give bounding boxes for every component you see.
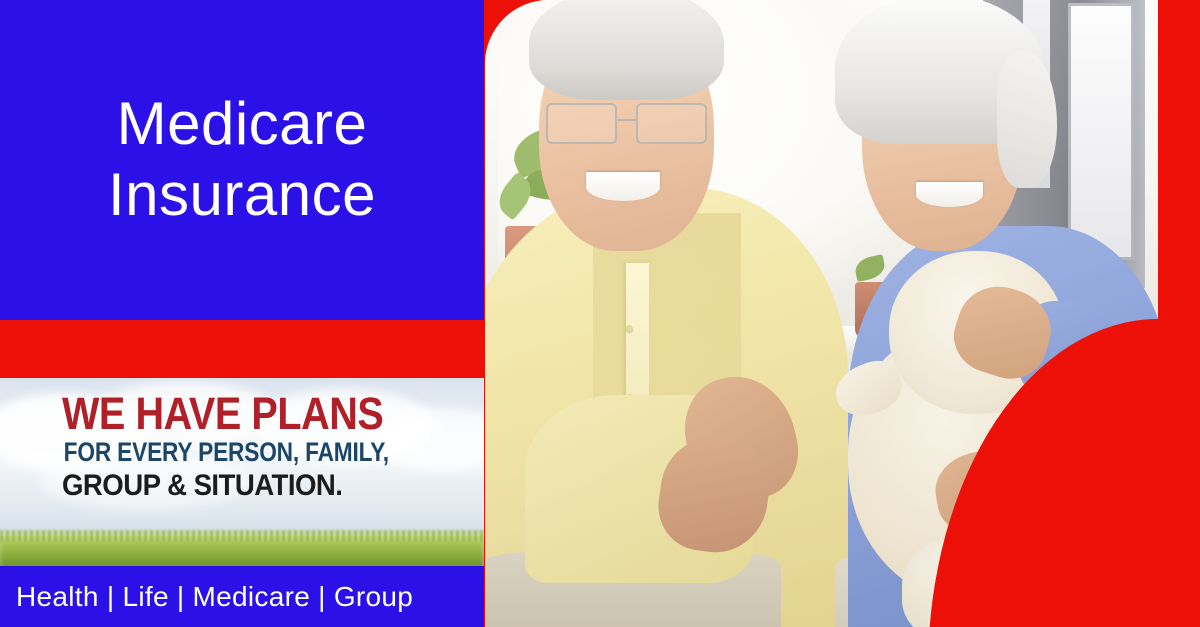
senior-man-smile	[586, 172, 660, 200]
window-pane	[1071, 6, 1132, 257]
plans-headline-primary: WE HAVE PLANS	[62, 392, 433, 436]
page-title: Medicare Insurance	[0, 0, 484, 320]
we-have-plans-banner: WE HAVE PLANS FOR EVERY PERSON, FAMILY, …	[0, 378, 484, 566]
red-divider-strip	[0, 320, 484, 378]
services-list: Health | Life | Medicare | Group	[0, 581, 413, 613]
eyeglasses-icon	[546, 103, 708, 144]
white-dog-leg	[902, 539, 1010, 627]
plans-headline-group: WE HAVE PLANS FOR EVERY PERSON, FAMILY, …	[0, 378, 484, 566]
plans-headline-secondary: FOR EVERY PERSON, FAMILY,	[62, 436, 416, 469]
photo-scene	[485, 0, 1158, 627]
eyeglasses-bridge	[617, 119, 636, 121]
senior-woman-sleeve-cuff-lower	[1023, 439, 1117, 539]
hero-title-line-1: Medicare	[117, 89, 368, 160]
eyeglasses-left-lens	[546, 103, 617, 144]
senior-couple-photo	[485, 0, 1158, 627]
services-strip: Health | Life | Medicare | Group	[0, 566, 484, 627]
shirt-button	[626, 325, 633, 332]
medicare-insurance-banner: Medicare Insurance WE HAVE PLANS FOR EVE…	[0, 0, 1200, 627]
left-content-column: Medicare Insurance WE HAVE PLANS FOR EVE…	[0, 0, 484, 627]
eyeglasses-right-lens	[636, 103, 707, 144]
senior-man-hair	[529, 0, 724, 100]
plans-headline-tertiary: GROUP & SITUATION.	[62, 469, 450, 504]
hero-title-line-2: Insurance	[108, 160, 376, 231]
senior-woman-smile	[916, 182, 983, 207]
